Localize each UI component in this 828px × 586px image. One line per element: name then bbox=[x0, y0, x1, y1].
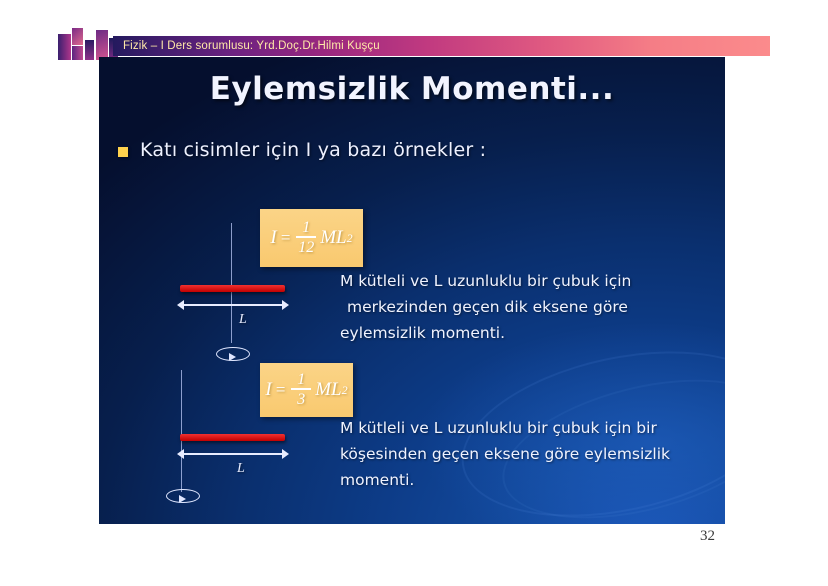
formula-box-2: I = 1 3 ML2 bbox=[260, 363, 353, 417]
dimension-arrow-2 bbox=[177, 447, 289, 461]
bullet-text: Katı cisimler için I ya bazı örnekler : bbox=[140, 139, 486, 161]
formula-box-1: I = 1 12 ML2 bbox=[260, 209, 363, 267]
header-title: Fizik – I Ders sorumlusu: Yrd.Doç.Dr.Hil… bbox=[113, 40, 380, 52]
description-line: merkezinden geçen dik eksene göre bbox=[340, 294, 690, 320]
dimension-arrow-1 bbox=[177, 298, 289, 312]
description-2: M kütleli ve L uzunluklu bir çubuk için … bbox=[340, 415, 725, 493]
deco-block-4 bbox=[85, 40, 94, 60]
fraction-denominator: 12 bbox=[298, 238, 314, 256]
formula-expression-1: I = 1 12 ML2 bbox=[270, 220, 352, 256]
formula-fraction: 1 3 bbox=[291, 372, 311, 408]
bullet-row: Katı cisimler için I ya bazı örnekler : bbox=[118, 139, 486, 161]
dimension-label-1: L bbox=[239, 312, 247, 328]
rotation-arrow-icon-2 bbox=[179, 495, 186, 503]
formula-equals: = bbox=[275, 380, 286, 400]
deco-block-5 bbox=[96, 30, 108, 60]
formula-body: ML bbox=[315, 379, 341, 401]
formula-expression-2: I = 1 3 ML2 bbox=[265, 372, 347, 408]
rod-2 bbox=[180, 434, 285, 441]
formula-equals: = bbox=[280, 228, 291, 248]
deco-block-3 bbox=[72, 46, 83, 60]
description-line: M kütleli ve L uzunluklu bir çubuk için bbox=[340, 268, 690, 294]
description-line: eylemsizlik momenti. bbox=[340, 320, 690, 346]
rotation-axis-line-2 bbox=[181, 370, 182, 492]
rotation-arrow-icon-1 bbox=[229, 353, 236, 361]
formula-exponent: 2 bbox=[347, 231, 353, 246]
page-title: Eylemsizlik Momenti... bbox=[99, 71, 725, 107]
formula-exponent: 2 bbox=[342, 383, 348, 398]
deco-block-1 bbox=[58, 34, 71, 60]
formula-variable: I bbox=[265, 379, 271, 401]
dimension-line bbox=[183, 453, 283, 455]
header-bar: Fizik – I Ders sorumlusu: Yrd.Doç.Dr.Hil… bbox=[113, 36, 770, 56]
arrow-head-right-icon bbox=[282, 300, 289, 310]
fraction-denominator: 3 bbox=[297, 390, 305, 408]
formula-variable: I bbox=[270, 227, 276, 249]
description-line: köşesinden geçen eksene göre eylemsizlik bbox=[340, 441, 725, 467]
rod-1 bbox=[180, 285, 285, 292]
description-1: M kütleli ve L uzunluklu bir çubuk için … bbox=[340, 268, 690, 346]
fraction-numerator: 1 bbox=[297, 372, 305, 388]
formula-body: ML bbox=[320, 227, 346, 249]
dimension-line bbox=[183, 304, 283, 306]
description-line: M kütleli ve L uzunluklu bir çubuk için … bbox=[340, 415, 725, 441]
fraction-numerator: 1 bbox=[302, 220, 310, 236]
bullet-square-icon bbox=[118, 147, 128, 157]
slide-canvas: Eylemsizlik Momenti... Katı cisimler içi… bbox=[99, 57, 725, 524]
formula-fraction: 1 12 bbox=[296, 220, 316, 256]
dimension-label-2: L bbox=[237, 461, 245, 477]
arrow-head-right-icon bbox=[282, 449, 289, 459]
page-number: 32 bbox=[700, 528, 715, 545]
deco-block-2 bbox=[72, 28, 83, 45]
description-line: momenti. bbox=[340, 467, 725, 493]
rotation-axis-line-1 bbox=[231, 223, 232, 343]
